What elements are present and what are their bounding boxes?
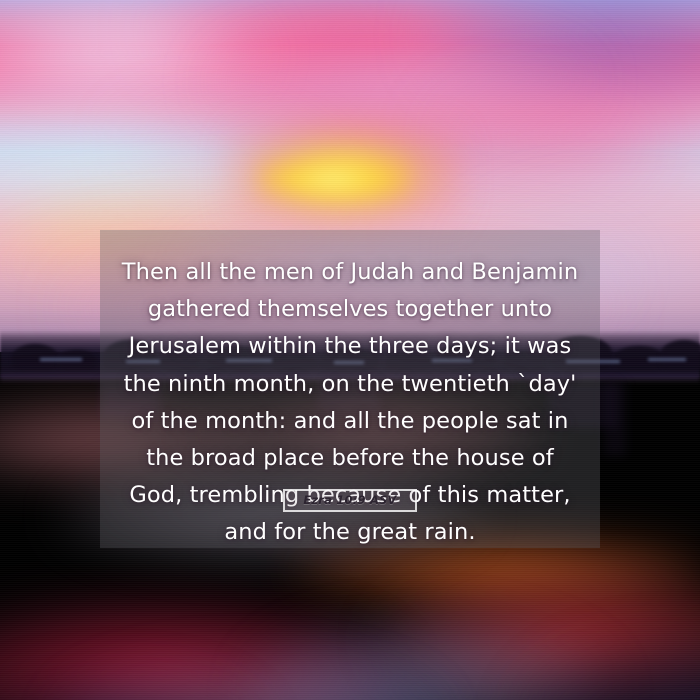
shore-light-glint [648,358,686,361]
tree-silhouette [12,344,58,370]
sun-glow-core [258,158,408,200]
shore-light-glint [40,358,82,361]
verse-overlay-panel: Then all the men of Judah and Benjamin g… [100,230,600,548]
verse-image: Then all the men of Judah and Benjamin g… [0,0,700,700]
tree-silhouette [660,340,700,370]
reference-badge-row: Ezra 10:9 ASV [100,489,600,512]
verse-reference-badge: Ezra 10:9 ASV [283,489,416,512]
tree-reflection [604,382,626,456]
